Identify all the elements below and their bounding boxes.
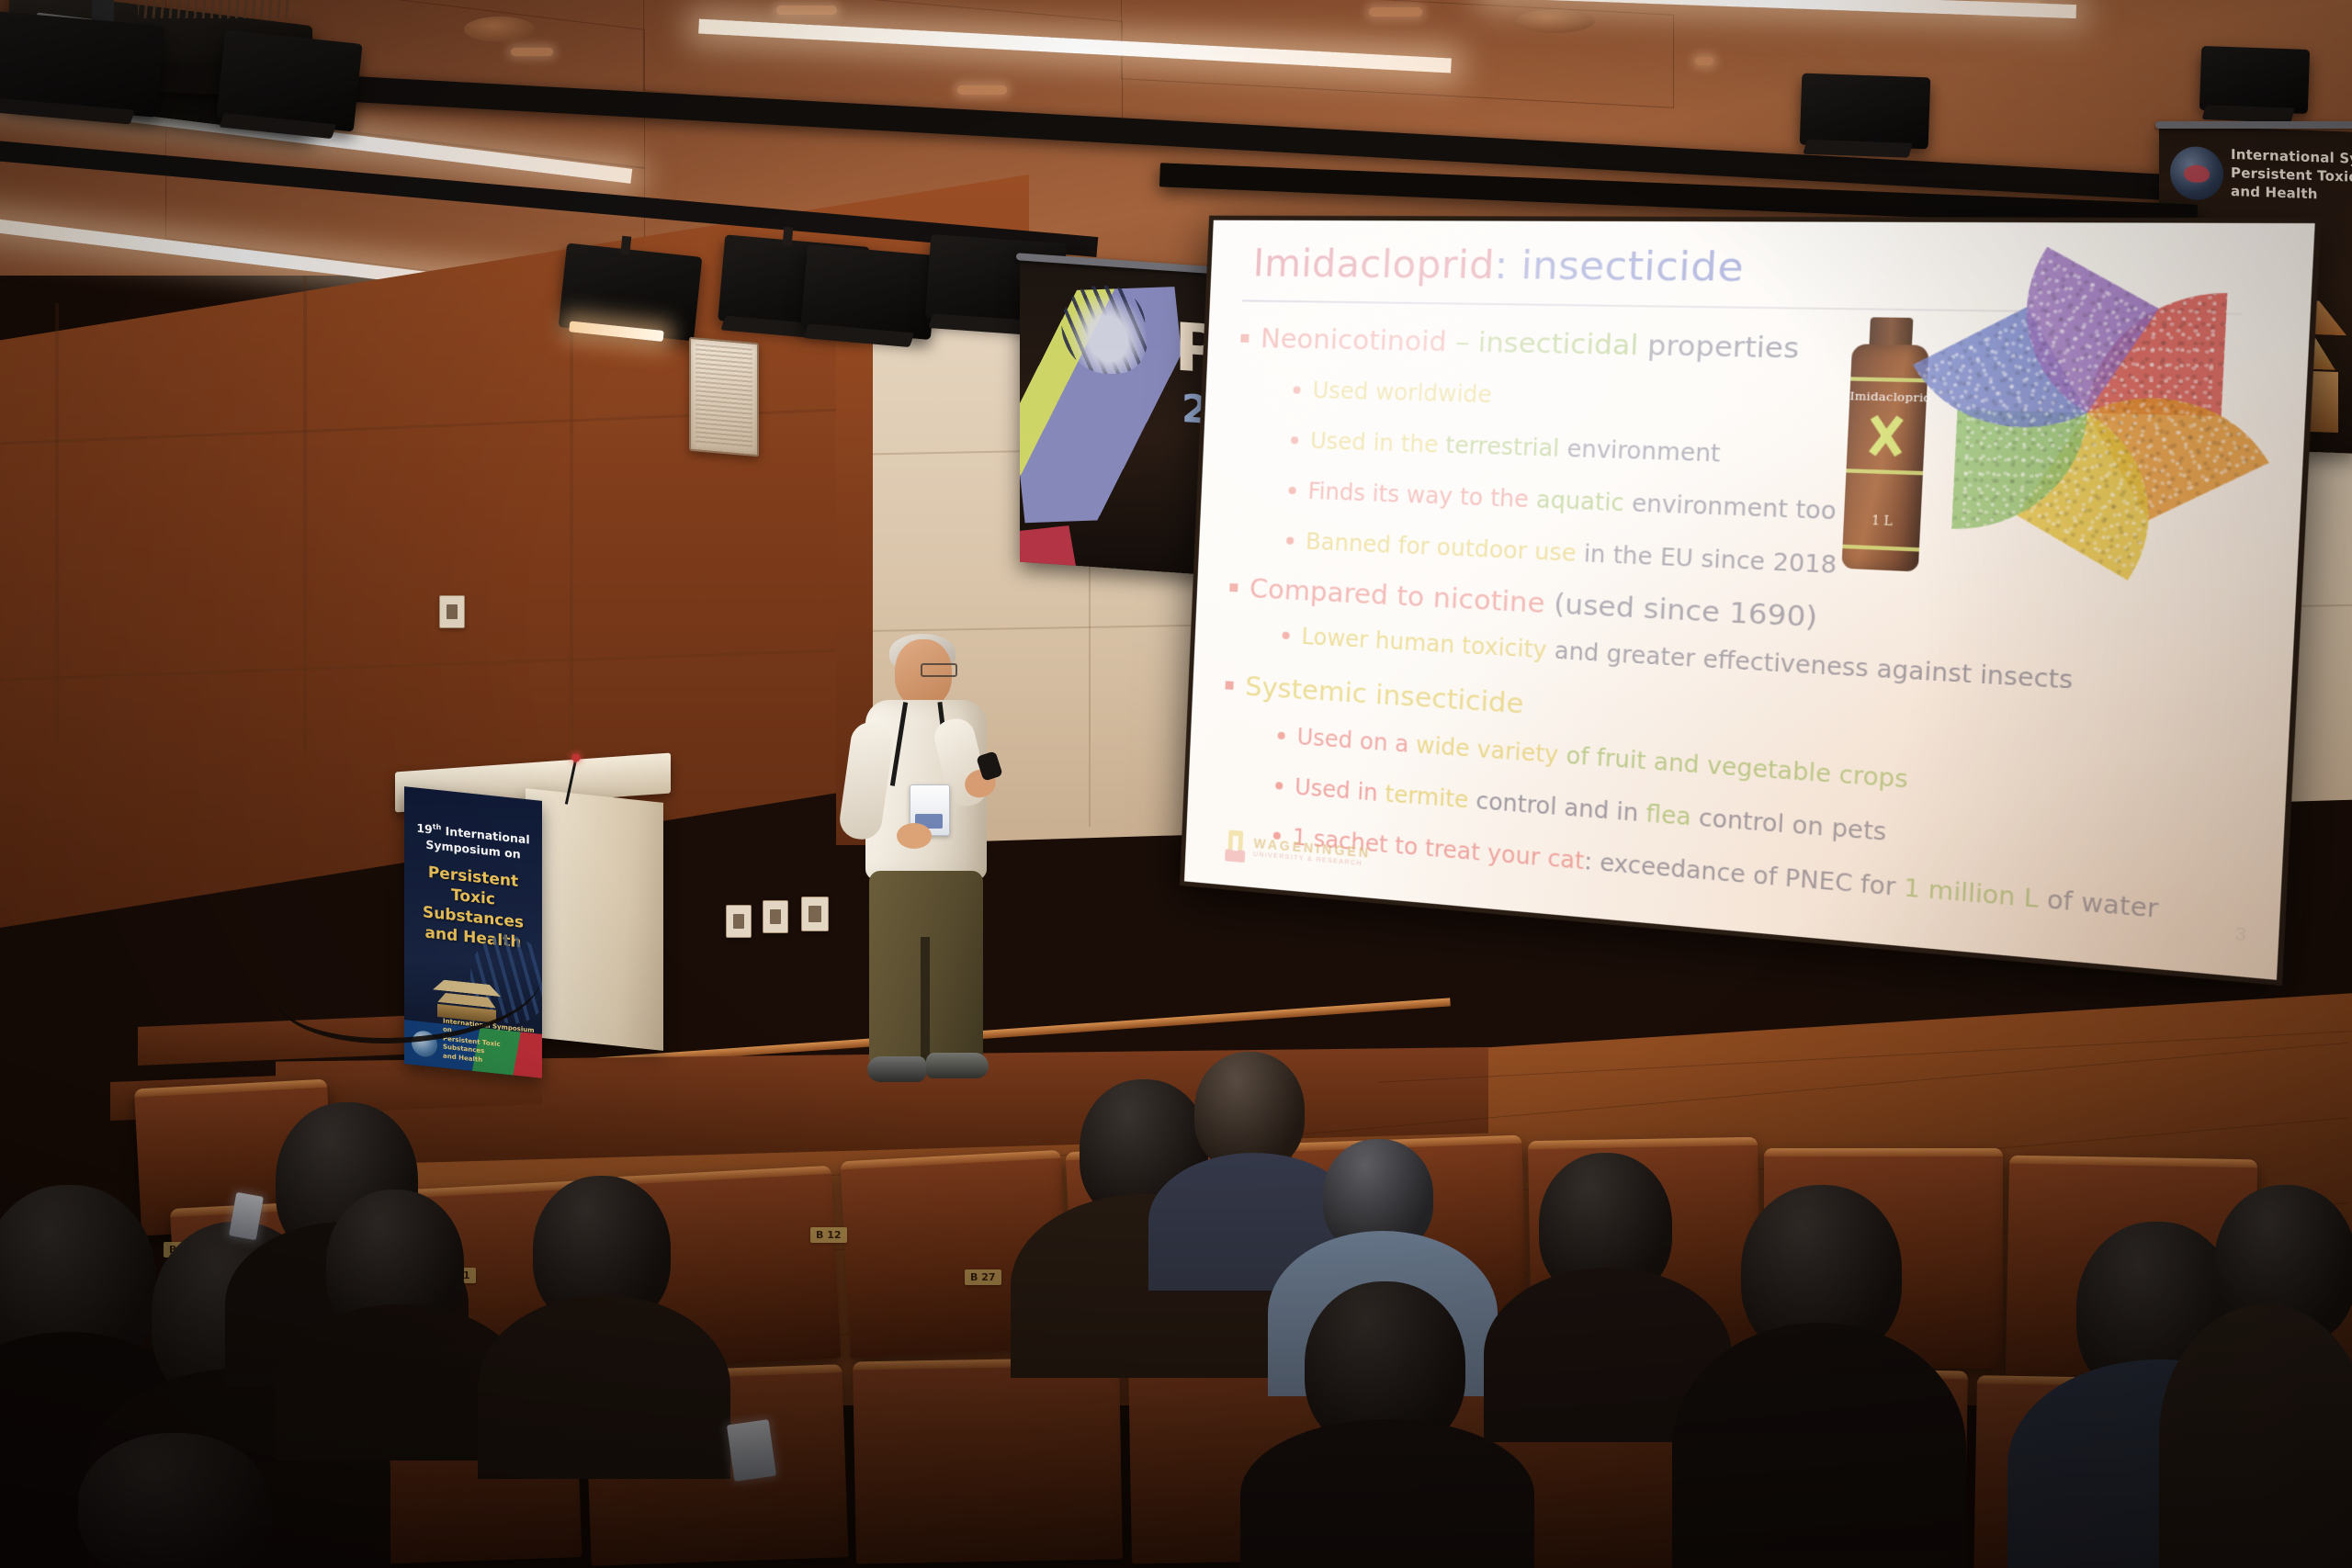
bullet-text-segment: environment [1566, 435, 1721, 468]
spotlight-yoke [783, 227, 794, 246]
bullet-text-segment: Compared to nicotine [1249, 572, 1555, 620]
bottle-volume-text: 1 L [1844, 513, 1921, 530]
slide-bullet-list: Neonicotinoid – insecticidal propertiesU… [1214, 220, 2315, 223]
bottle-x-logo [1861, 413, 1910, 458]
ceiling-downlight [511, 48, 553, 56]
symposium-logo-icon [2170, 146, 2223, 201]
stage-spotlight [2199, 46, 2310, 114]
bullet-marker-icon [1240, 333, 1249, 342]
bullet-text-segment: Neonicotinoid [1260, 322, 1456, 358]
audience-member-shoulders [1672, 1323, 1966, 1568]
ceiling-downlight [1695, 57, 1713, 65]
bullet-text-segment: environment too [1631, 490, 1837, 525]
bullet-marker-icon [1229, 582, 1238, 591]
bullet-text-segment: of water [2046, 886, 2159, 923]
ceiling-downlight [1369, 7, 1422, 17]
seat [853, 1357, 1123, 1563]
slide-bullet: Neonicotinoid – insecticidal properties [1240, 322, 1800, 366]
spotlight-barndoor [2201, 105, 2294, 122]
slide-title-part1: Imidacloprid [1252, 241, 1496, 288]
ceiling-vent [464, 17, 536, 42]
bullet-text-segment: 1 million L [1903, 874, 2047, 914]
auditorium-photo: P 20 International Sympos Persistent Tox… [0, 0, 2352, 1568]
seat-number-plate: B 27 [965, 1269, 1001, 1285]
sign-edition-number: 19 [416, 821, 432, 837]
bullet-text-segment: Used on a [1296, 724, 1417, 759]
presentation-slide: Imidacloprid: insecticide Neonicotinoid … [1184, 220, 2315, 980]
bullet-marker-icon [1226, 681, 1234, 690]
bullet-text-segment: Used in [1295, 773, 1386, 807]
bullet-text-segment: of fruit and vegetable crops [1566, 742, 1909, 794]
slide-title: Imidacloprid: insecticide [1252, 241, 1745, 290]
bullet-marker-icon [1293, 386, 1300, 393]
slide-bullet: Used in the terrestrial environment [1290, 427, 1721, 468]
bullet-text-segment: – insecticidal [1454, 325, 1648, 361]
bullet-marker-icon [1282, 632, 1289, 640]
presenter-shoe [926, 1053, 989, 1078]
slide-bullet: Finds its way to the aquatic environment… [1288, 478, 1837, 525]
bullet-text-segment: properties [1646, 329, 1800, 365]
ceiling-downlight [776, 6, 837, 15]
bullet-text-segment: Used in the [1309, 428, 1446, 458]
slide-bullet-text: Used worldwide [1312, 378, 1493, 409]
slide-title-part2: : insecticide [1493, 242, 1745, 290]
ceiling-downlight [957, 85, 1007, 95]
slide-bullet: Used worldwide [1293, 377, 1493, 408]
bullet-text-segment: Banned for outdoor use [1306, 528, 1585, 567]
stage-spotlight [1800, 73, 1931, 150]
imidacloprid-bottle-image: Imidacloprid 1 L [1835, 317, 1937, 572]
bottle-cap [1869, 317, 1913, 348]
speaker-grill [695, 344, 752, 449]
bullet-text-segment: aquatic [1535, 486, 1633, 516]
bullet-text-segment: flea [1645, 800, 1700, 831]
slide-bullet: Systemic insecticide [1225, 669, 1524, 720]
lectern-body [526, 788, 663, 1051]
sign-subtitle: 19th International Symposium on [404, 819, 542, 865]
bullet-text-segment: Finds its way to the [1307, 478, 1537, 513]
bullet-marker-icon [1288, 487, 1295, 494]
slide-bullet-text: Systemic insecticide [1245, 671, 1525, 720]
bullet-marker-icon [1291, 436, 1298, 444]
audience-member-head [78, 1433, 271, 1568]
logo-shape-bottom [1225, 849, 1245, 863]
bullet-text-segment: (used since 1690) [1554, 587, 1819, 634]
wall-outlet [763, 900, 788, 933]
slide-bullet-text: Used in the terrestrial environment [1309, 428, 1721, 468]
bullet-text-segment: terrestrial [1445, 432, 1567, 462]
projection-screen: Imidacloprid: insecticide Neonicotinoid … [1180, 216, 2322, 986]
bullet-text-segment: Lower human toxicity [1301, 624, 1555, 665]
sign-footer-2: Persistent Toxic Substances [443, 1034, 501, 1055]
presenter-shoe [867, 1056, 926, 1082]
wall-outlet [726, 905, 752, 938]
slide-number: 3 [2234, 924, 2246, 946]
sign-edition-suffix: th [433, 822, 442, 831]
audience-phone-screen [727, 1419, 776, 1482]
banner-line-3: and Health [2231, 183, 2318, 202]
slide-bullet-text: Banned for outdoor use in the EU since 2… [1306, 528, 1837, 579]
presenter-glasses [921, 663, 957, 677]
bullet-text-segment: and greater effectiveness against insect… [1554, 637, 2074, 694]
wageningen-mark-icon [1225, 829, 1246, 863]
slide-bullet-text: Finds its way to the aquatic environment… [1307, 478, 1837, 525]
slide-bullet-text: Neonicotinoid – insecticidal properties [1260, 322, 1800, 365]
wall-speaker [689, 337, 759, 457]
stage-spotlight [216, 29, 362, 131]
slide-bullet: 1 sachet to treat your cat: exceedance o… [1272, 822, 2159, 923]
bullet-text-segment: in the EU since 2018 [1583, 540, 1837, 579]
seat-back-top [1764, 1148, 2003, 1156]
banner-rod [2155, 121, 2352, 129]
projector-cables [138, 0, 294, 18]
bottle-label-text: Imidacloprid [1849, 389, 1927, 404]
bullet-marker-icon [1286, 536, 1294, 544]
audience-member-shoulders [2159, 1304, 2352, 1568]
ceiling-vent [1516, 9, 1595, 33]
presenter [818, 634, 1038, 1111]
bullet-text-segment: control on pets [1698, 805, 1887, 847]
wall-seam [303, 276, 307, 753]
logo-shape-gap [1232, 836, 1238, 852]
bullet-text-segment: wide variety [1416, 732, 1567, 770]
bullet-marker-icon [1275, 782, 1283, 790]
tiger-graphic [1020, 287, 1199, 523]
presenter-left-hand [897, 823, 932, 849]
bullet-text-segment: control and in [1476, 787, 1647, 828]
wall-outlet [439, 595, 465, 628]
audience-member-shoulders [478, 1295, 730, 1479]
sign-heading-1: Persistent Toxic [428, 863, 518, 909]
slide-bullet-text: 1 sachet to treat your cat: exceedance o… [1292, 824, 2159, 923]
stage-spotlight [0, 11, 164, 118]
slide-bullet: Banned for outdoor use in the EU since 2… [1286, 527, 1837, 579]
seat-number-plate: B 12 [810, 1227, 847, 1243]
bullet-text-segment: Used worldwide [1312, 378, 1493, 409]
treated-seeds-image [1950, 293, 2230, 536]
presenter-leg-gap [921, 937, 930, 1066]
bullet-text-segment: : exceedance of PNEC for [1584, 848, 1905, 902]
stage-spotlight [559, 243, 703, 342]
wageningen-logo-text: WAGENINGEN UNIVERSITY & RESEARCH [1253, 837, 1372, 869]
spotlight-yoke [620, 236, 631, 255]
bullet-text-segment: Systemic insecticide [1245, 671, 1525, 720]
stage-spotlight [800, 244, 937, 340]
bullet-text-segment: termite [1385, 781, 1476, 814]
bullet-marker-icon [1278, 732, 1285, 740]
